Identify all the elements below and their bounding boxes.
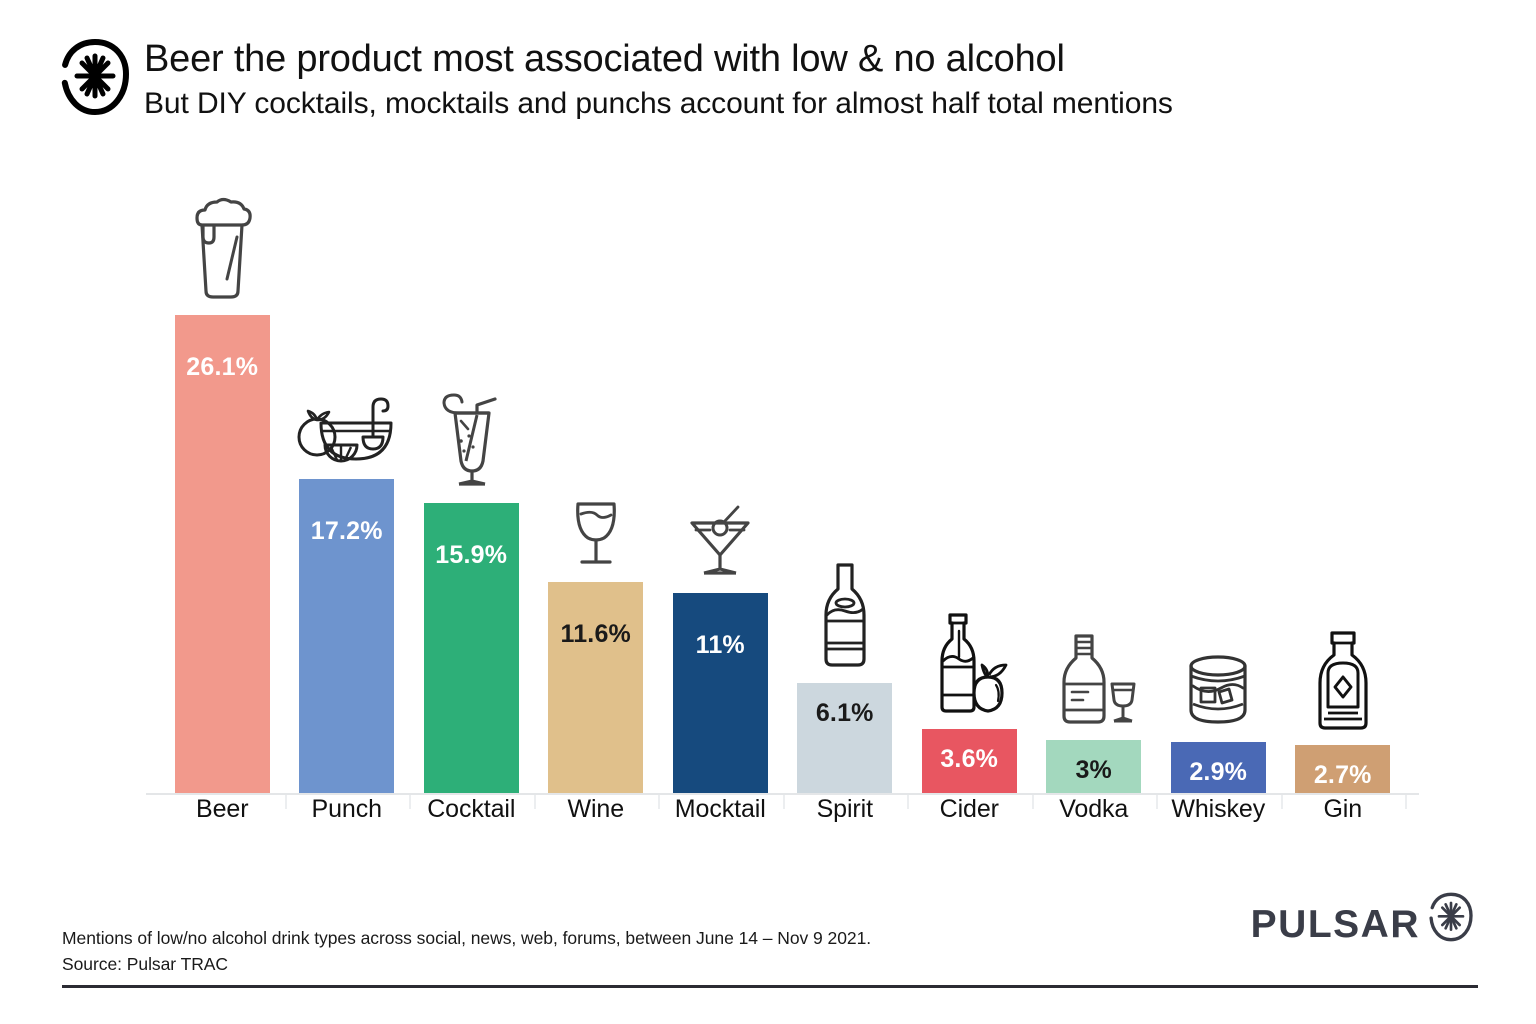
page-title: Beer the product most associated with lo… — [144, 36, 1173, 82]
category-label-mocktail: Mocktail — [658, 795, 783, 824]
bar-value-label: 2.7% — [1314, 761, 1372, 790]
bar-spirit[interactable]: 6.1% — [797, 683, 892, 795]
bar-column: 3% — [1032, 175, 1157, 795]
bar-cocktail[interactable]: 15.9% — [424, 503, 519, 795]
pulsar-wordmark: PULSAR — [1251, 903, 1420, 947]
footer-divider — [62, 985, 1478, 988]
cocktail-glass-icon — [433, 391, 509, 491]
punch-bowl-icon — [295, 393, 399, 467]
bar-cider[interactable]: 3.6% — [922, 729, 1017, 795]
bar-wine[interactable]: 11.6% — [548, 582, 643, 795]
bar-column: 11.6% — [534, 175, 659, 795]
martini-glass-icon — [682, 503, 758, 581]
bar-gin[interactable]: 2.7% — [1295, 745, 1390, 795]
bar-column: 2.9% — [1156, 175, 1281, 795]
bar-column: 2.7% — [1281, 175, 1406, 795]
bar-value-label: 6.1% — [816, 699, 874, 728]
bar-value-label: 2.9% — [1189, 758, 1247, 787]
bar-value-label: 17.2% — [311, 517, 383, 546]
pulsar-starburst-icon — [1426, 891, 1476, 943]
x-axis-category-labels: BeerPunchCocktailWineMocktailSpiritCider… — [160, 795, 1405, 824]
bar-mocktail[interactable]: 11% — [673, 593, 768, 795]
category-label-beer: Beer — [160, 795, 285, 824]
bar-value-label: 3% — [1075, 756, 1112, 785]
category-label-whiskey: Whiskey — [1156, 795, 1281, 824]
bar-beer[interactable]: 26.1% — [175, 315, 270, 795]
category-label-cocktail: Cocktail — [409, 795, 534, 824]
vodka-bottle-shot-icon — [1050, 632, 1138, 728]
gin-bottle-icon — [1312, 629, 1374, 733]
pulsar-starburst-icon — [58, 38, 132, 116]
footnote-line-2: Source: Pulsar TRAC — [62, 951, 871, 977]
footnote: Mentions of low/no alcohol drink types a… — [62, 925, 871, 977]
bar-value-label: 11.6% — [560, 620, 631, 649]
bar-value-label: 3.6% — [940, 745, 998, 774]
cider-bottle-apple-icon — [926, 611, 1012, 717]
wine-glass-icon — [564, 496, 628, 570]
category-label-wine: Wine — [534, 795, 659, 824]
bar-whiskey[interactable]: 2.9% — [1171, 742, 1266, 795]
chart-plot-area: 26.1% 17.2% 15.9% 11.6% 11% 6.1% — [160, 175, 1405, 795]
bar-column: 17.2% — [285, 175, 410, 795]
bar-column: 11% — [658, 175, 783, 795]
page-subtitle: But DIY cocktails, mocktails and punchs … — [144, 84, 1173, 124]
spirit-bottle-icon — [816, 559, 874, 671]
axis-tick — [1405, 795, 1407, 809]
bar-column: 6.1% — [783, 175, 908, 795]
category-label-punch: Punch — [285, 795, 410, 824]
bar-punch[interactable]: 17.2% — [299, 479, 394, 795]
bar-column: 26.1% — [160, 175, 285, 795]
bar-column: 15.9% — [409, 175, 534, 795]
bar-value-label: 26.1% — [186, 353, 258, 382]
chart-header: Beer the product most associated with lo… — [58, 34, 1478, 124]
category-label-cider: Cider — [907, 795, 1032, 824]
beer-glass-icon — [187, 195, 257, 303]
bar-vodka[interactable]: 3% — [1046, 740, 1141, 795]
category-label-vodka: Vodka — [1032, 795, 1157, 824]
bar-value-label: 11% — [696, 631, 745, 660]
bar-column: 3.6% — [907, 175, 1032, 795]
bar-value-label: 15.9% — [435, 541, 507, 570]
footnote-line-1: Mentions of low/no alcohol drink types a… — [62, 925, 871, 951]
category-label-gin: Gin — [1281, 795, 1406, 824]
whiskey-tumbler-icon — [1179, 650, 1257, 730]
pulsar-logo: PULSAR — [1251, 903, 1476, 947]
category-label-spirit: Spirit — [783, 795, 908, 824]
bar-chart: 26.1% 17.2% 15.9% 11.6% 11% 6.1% — [160, 175, 1405, 795]
